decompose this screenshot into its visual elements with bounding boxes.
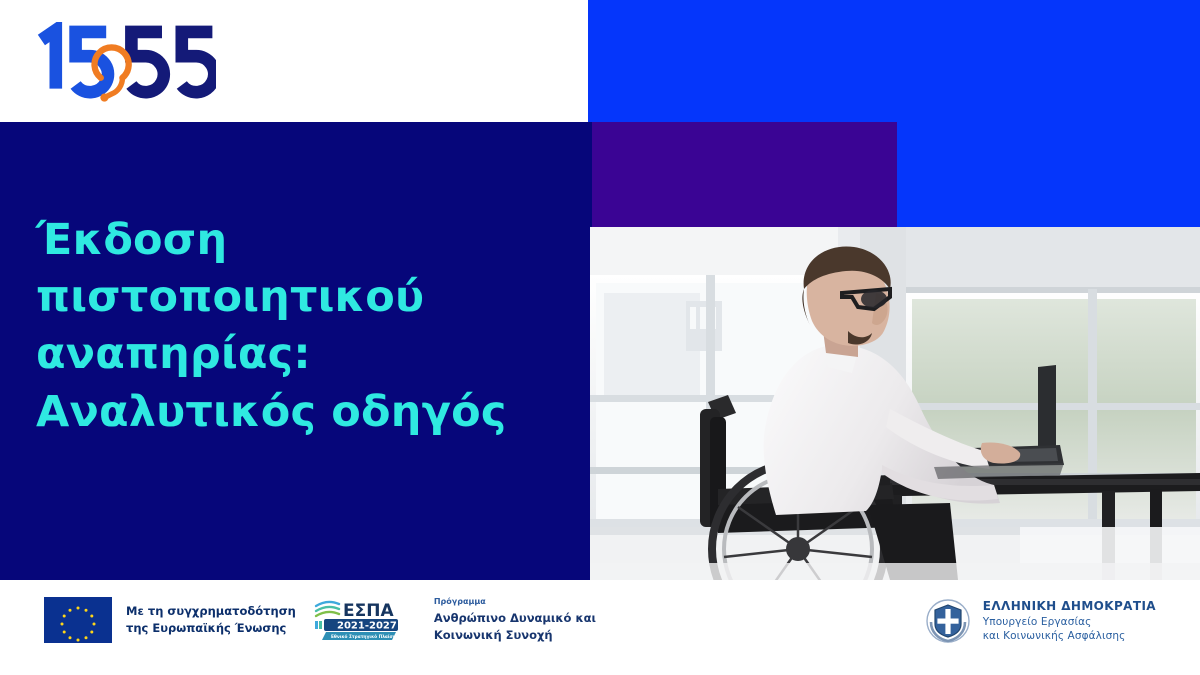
poster-canvas: Έκδοση πιστοποιητικού αναπηρίας: Αναλυτι… xyxy=(0,0,1200,675)
logo-1555[interactable] xyxy=(36,22,216,106)
svg-text:Εθνικό Στρατηγικό Πλαίσιο Αναφ: Εθνικό Στρατηγικό Πλαίσιο Αναφοράς xyxy=(331,633,398,640)
ministry-text: ΕΛΛΗΝΙΚΗ ΔΗΜΟΚΡΑΤΙΑ Υπουργείο Εργασίας κ… xyxy=(983,598,1156,644)
svg-text:2021-2027: 2021-2027 xyxy=(337,621,397,632)
eu-cofunding-text: Με τη συγχρηματοδότηση της Ευρωπαϊκής Έν… xyxy=(126,603,296,636)
programme-kicker: Πρόγραμμα xyxy=(434,597,596,607)
page-title: Έκδοση πιστοποιητικού αναπηρίας: Αναλυτι… xyxy=(36,212,566,441)
hero-photo xyxy=(590,227,1200,580)
greek-republic-emblem-icon xyxy=(925,598,971,644)
footer-ministry-group: ΕΛΛΗΝΙΚΗ ΔΗΜΟΚΡΑΤΙΑ Υπουργείο Εργασίας κ… xyxy=(925,598,1156,644)
eu-flag-icon xyxy=(44,597,112,643)
blue-accent-block-right xyxy=(897,122,1200,228)
ministry-subtitle: Υπουργείο Εργασίας και Κοινωνικής Ασφάλι… xyxy=(983,615,1156,644)
svg-text:ΕΣΠΑ: ΕΣΠΑ xyxy=(343,601,394,621)
ministry-title: ΕΛΛΗΝΙΚΗ ΔΗΜΟΚΡΑΤΙΑ xyxy=(983,598,1156,615)
programme-group: Πρόγραμμα Ανθρώπινο Δυναμικό και Κοινωνι… xyxy=(434,597,596,643)
espa-logo: ΕΣΠΑ 2021-2027 Εθνικό Στρατηγικό Πλαίσιο… xyxy=(314,597,398,643)
programme-name: Ανθρώπινο Δυναμικό και Κοινωνική Συνοχή xyxy=(434,610,596,643)
footer-eu-group: Με τη συγχρηματοδότηση της Ευρωπαϊκής Έν… xyxy=(44,597,596,643)
purple-accent-block xyxy=(590,122,897,228)
